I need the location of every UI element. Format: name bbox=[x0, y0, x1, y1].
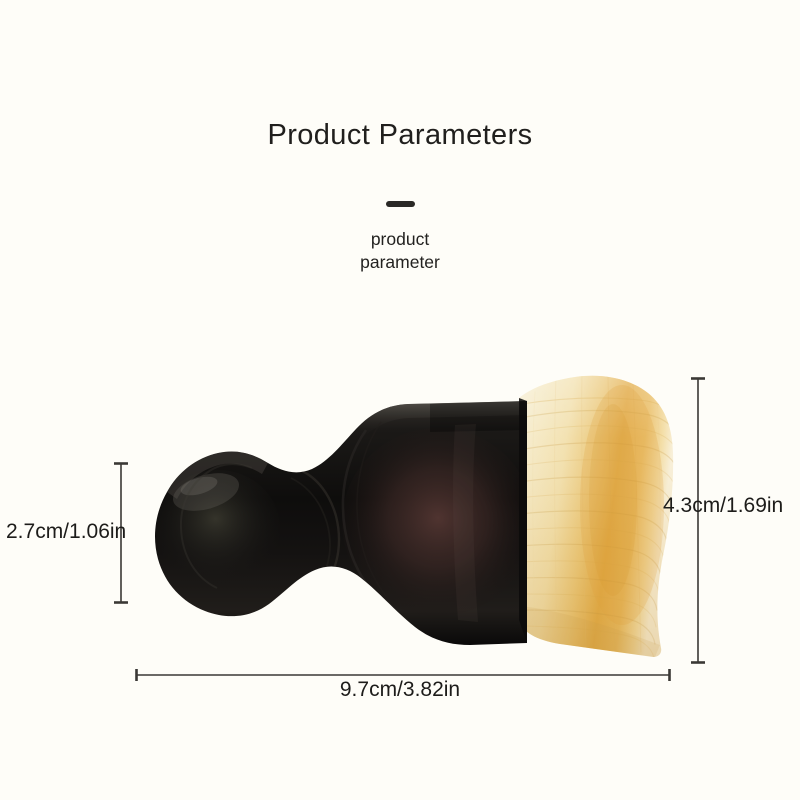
product-parameters-image: Product Parameters product parameter bbox=[0, 0, 800, 800]
dimension-label-height-left: 2.7cm/1.06in bbox=[6, 521, 126, 542]
dimension-lines bbox=[114, 378, 705, 681]
dimension-label-width-bottom: 9.7cm/3.82in bbox=[0, 679, 800, 700]
dimension-annotations: 2.7cm/1.06in 4.3cm/1.69in 9.7cm/3.82in bbox=[0, 0, 800, 800]
dimension-label-height-right: 4.3cm/1.69in bbox=[663, 495, 783, 516]
